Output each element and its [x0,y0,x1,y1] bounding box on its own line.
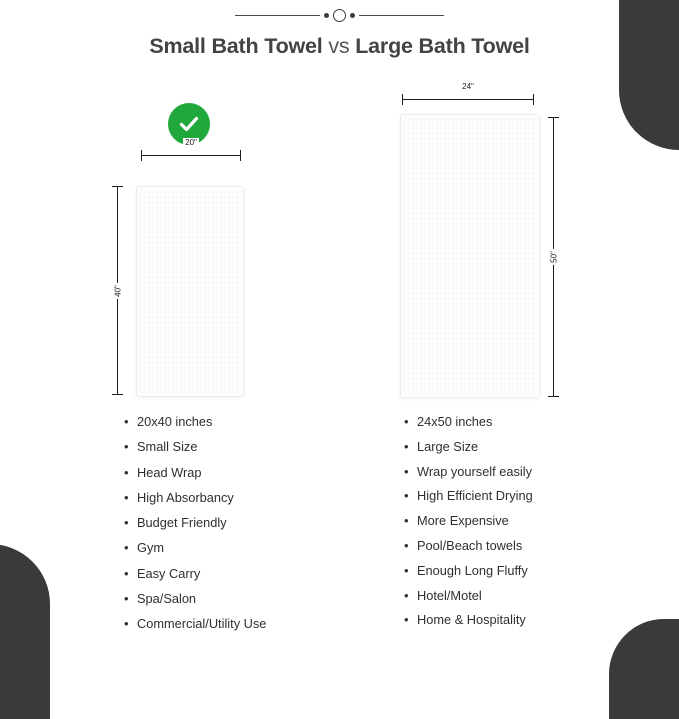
list-item: Spa/Salon [124,593,266,606]
small-towel-height-label: 40" [112,283,123,299]
title-right-product: Large Bath Towel [355,34,529,58]
title-ornament [0,9,679,22]
ornament-line-right [359,15,444,16]
large-towel-width-dimension: 24" [402,94,534,105]
list-item: Small Size [124,441,266,454]
small-towel-height-dimension: 40" [112,186,123,395]
comparison-infographic: Small Bath Towel vs Large Bath Towel 20"… [0,0,679,679]
title-left-product: Small Bath Towel [149,34,322,58]
list-item: Large Size [404,441,533,454]
title-vs: vs [328,34,349,58]
list-item: Head Wrap [124,467,266,480]
list-item: Home & Hospitality [404,614,533,627]
large-towel-image [400,114,540,398]
large-towel-height-label: 50" [548,249,559,265]
list-item: Gym [124,542,266,555]
list-item: 24x50 inches [404,416,533,429]
list-item: More Expensive [404,515,533,528]
list-item: 20x40 inches [124,416,266,429]
ornament-circle [333,9,346,22]
list-item: Budget Friendly [124,517,266,530]
ornament-dot-left [324,13,329,18]
ornament-dot-right [350,13,355,18]
list-item: Commercial/Utility Use [124,618,266,631]
list-item: Wrap yourself easily [404,466,533,479]
list-item: Easy Carry [124,568,266,581]
small-towel-width-label: 20" [183,138,199,147]
list-item: High Efficient Drying [404,490,533,503]
large-towel-width-label: 24" [460,82,476,91]
large-towel-feature-list: 24x50 inches Large Size Wrap yourself ea… [404,416,533,639]
list-item: Pool/Beach towels [404,540,533,553]
list-item: Hotel/Motel [404,590,533,603]
list-item: Enough Long Fluffy [404,565,533,578]
small-towel-feature-list: 20x40 inches Small Size Head Wrap High A… [124,416,266,644]
check-icon [177,112,201,136]
small-towel-image [136,186,244,397]
ornament-line-left [235,15,320,16]
list-item: High Absorbancy [124,492,266,505]
small-towel-width-dimension: 20" [141,150,241,161]
large-towel-height-dimension: 50" [548,117,559,397]
page-title: Small Bath Towel vs Large Bath Towel [0,34,679,59]
